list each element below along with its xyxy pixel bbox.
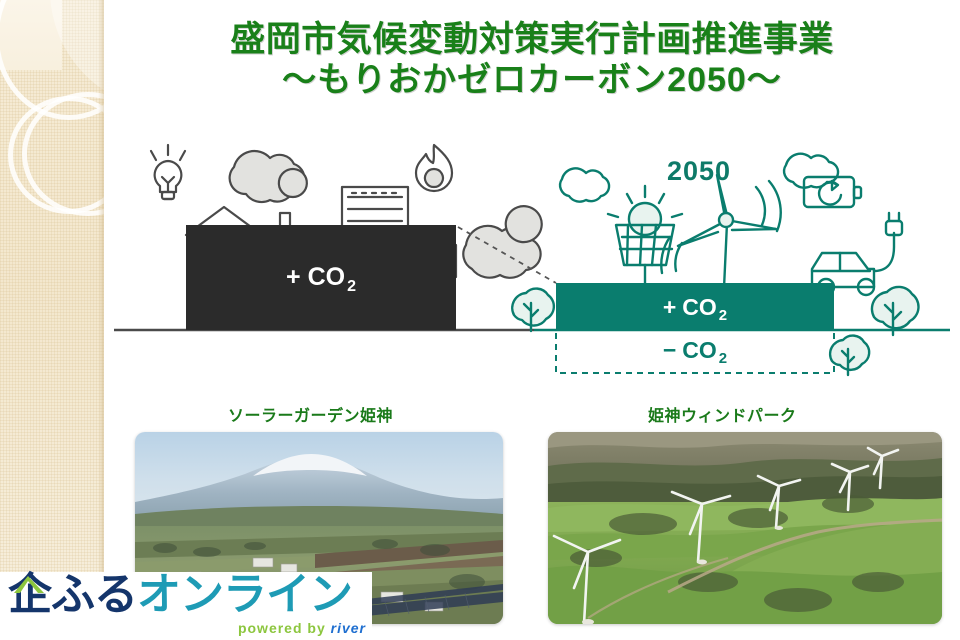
deco-ring-white-small	[8, 96, 104, 214]
logo-powered-by-text: powered by	[238, 620, 326, 636]
logo-text-online: オンライン	[137, 570, 352, 619]
logo-text-furu: ふる	[51, 570, 137, 619]
co2-infographic: .gl{fill:none;stroke:#4a4a4a;stroke-widt…	[104, 125, 960, 390]
present-plus-sign: +	[286, 263, 301, 291]
cloud-large-icon	[463, 206, 541, 278]
slide-root: 盛岡市気候変動対策実行計画推進事業 〜もりおかゼロカーボン2050〜 .gl{f…	[0, 0, 960, 640]
tree-icon-left	[512, 289, 554, 331]
battery-recharge-icon	[804, 177, 861, 207]
lightbulb-icon	[151, 145, 185, 199]
brand-logo[interactable]: 企ふるオンライン powered by river	[0, 572, 372, 640]
future-co2-subscript: 2	[719, 307, 727, 324]
cloud-outline-icon	[560, 168, 609, 201]
minus-co2-label: −CO2	[663, 337, 727, 367]
minus-co2-text: CO	[682, 337, 717, 363]
future-plus-sign: +	[663, 294, 676, 320]
minus-co2-subscript: 2	[719, 350, 727, 367]
tree-icon-right-small	[830, 336, 869, 375]
photo-himekami-wind-park	[548, 432, 942, 624]
tree-icon-right-big	[872, 287, 919, 335]
logo-brand-name: river	[331, 620, 366, 636]
present-co2-subscript: 2	[347, 278, 356, 295]
electric-car-icon	[812, 213, 902, 295]
present-co2-text: CO	[308, 263, 346, 291]
minus-sign: −	[663, 337, 676, 363]
decorative-side-border	[0, 0, 104, 640]
logo-wordmark: 企ふるオンライン	[8, 572, 352, 618]
caption-wind-park: 姫神ウィンドパーク	[648, 402, 797, 426]
flame-icon	[416, 145, 452, 191]
future-co2-text: CO	[682, 294, 717, 320]
wind-turbine-icon	[661, 175, 780, 288]
logo-tagline: powered by river	[238, 620, 366, 636]
logo-green-accent-icon	[12, 574, 46, 594]
title-block: 盛岡市気候変動対策実行計画推進事業 〜もりおかゼロカーボン2050〜	[104, 20, 960, 100]
page-title-line2: 〜もりおかゼロカーボン2050〜	[104, 61, 960, 100]
caption-solar-garden: ソーラーガーデン姫神	[228, 402, 393, 426]
page-title-line1: 盛岡市気候変動対策実行計画推進事業	[104, 20, 960, 59]
year-2050-label: 2050	[667, 156, 731, 186]
cloud-icon	[230, 151, 307, 202]
